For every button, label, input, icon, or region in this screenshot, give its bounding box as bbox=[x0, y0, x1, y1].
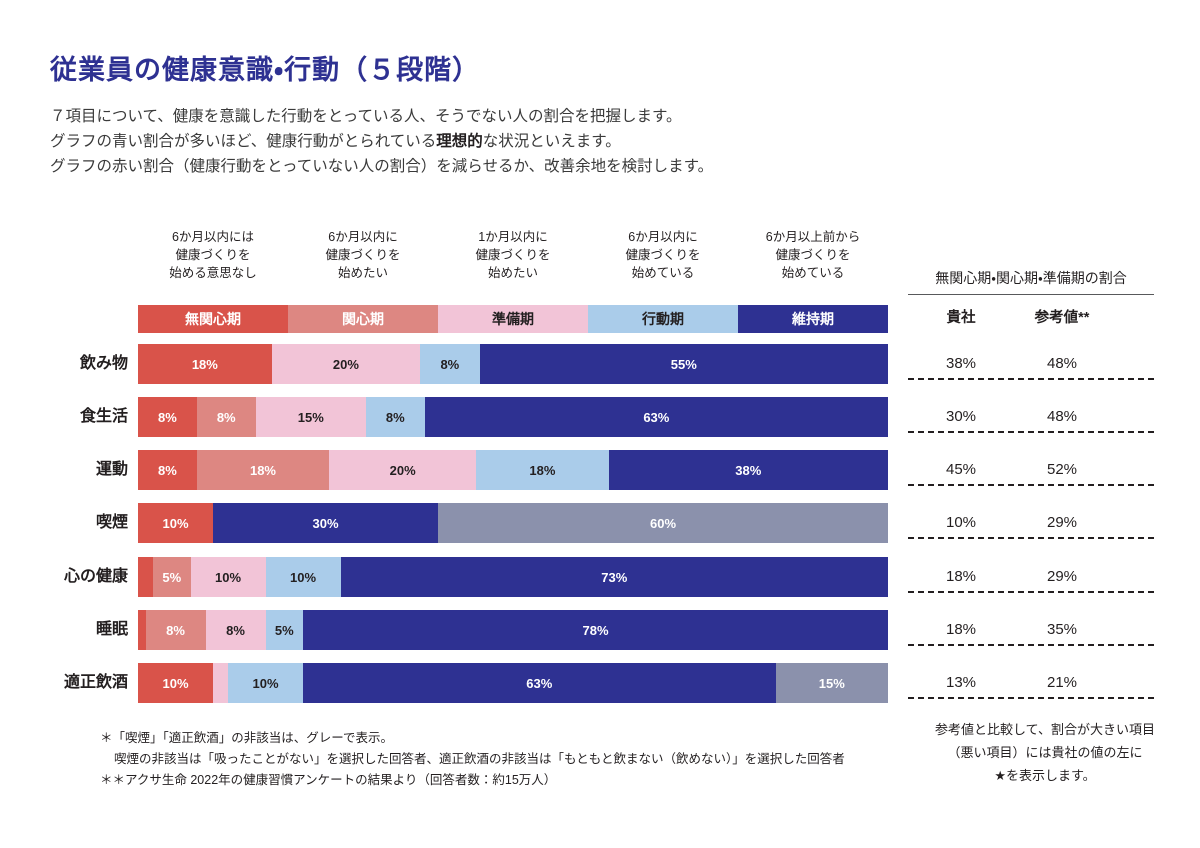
bar-segment-行動期[interactable]: 18% bbox=[476, 450, 608, 490]
bar-segment-維持期[interactable]: 38% bbox=[609, 450, 888, 490]
footnote-right-line-1: 参考値と比較して、割合が大きい項目 bbox=[900, 718, 1190, 741]
stacked-bar: 10%10%63%15% bbox=[138, 663, 888, 703]
bar-segment-関心期[interactable]: 5% bbox=[153, 557, 191, 597]
stage-caption-3-line-1: 1か月以内に bbox=[438, 228, 588, 246]
bar-segment-無関心期[interactable]: 8% bbox=[138, 450, 197, 490]
legend-item-4[interactable]: 行動期 bbox=[588, 305, 738, 333]
chart-row: 飲み物18%20%8%55%38%48% bbox=[0, 344, 1200, 384]
row-separator bbox=[908, 537, 1154, 539]
footnote-right: 参考値と比較して、割合が大きい項目 （悪い項目）には貴社の値の左に ★を表示しま… bbox=[900, 718, 1190, 787]
stacked-bar: 10%30%60% bbox=[138, 503, 888, 543]
row-separator bbox=[908, 431, 1154, 433]
chart-row: 心の健康5%10%10%73%18%29% bbox=[0, 557, 1200, 597]
legend-item-5[interactable]: 維持期 bbox=[738, 305, 888, 333]
chart-row: 喫煙10%30%60%10%29% bbox=[0, 503, 1200, 543]
right-table-title: 無関心期・関心期・準備期の割合 bbox=[908, 268, 1154, 288]
bar-segment-維持期[interactable]: 55% bbox=[480, 344, 888, 384]
stage-caption-4: 6か月以内に健康づくりを始めている bbox=[588, 228, 738, 282]
slide-root: 従業員の健康意識・行動（５段階） ７項目について、健康を意識した行動をとっている… bbox=[0, 0, 1200, 848]
bar-segment-維持期[interactable]: 30% bbox=[213, 503, 438, 543]
bar-segment-準備期[interactable]: 10% bbox=[191, 557, 266, 597]
stage-caption-1-line-2: 健康づくりを bbox=[138, 246, 288, 264]
stage-caption-4-line-2: 健康づくりを bbox=[588, 246, 738, 264]
right-table-rule bbox=[908, 294, 1154, 295]
stage-caption-5: 6か月以上前から健康づくりを始めている bbox=[738, 228, 888, 282]
stage-caption-4-line-3: 始めている bbox=[588, 264, 738, 282]
legend-item-3[interactable]: 準備期 bbox=[438, 305, 588, 333]
bar-segment-準備期[interactable]: 15% bbox=[256, 397, 366, 437]
bar-segment-無関心期[interactable] bbox=[138, 557, 153, 597]
stage-legend: 無関心期関心期準備期行動期維持期 bbox=[138, 305, 888, 333]
bar-segment-行動期[interactable]: 8% bbox=[420, 344, 479, 384]
stage-caption-1-line-3: 始める意思なし bbox=[138, 264, 288, 282]
bar-segment-維持期[interactable]: 63% bbox=[303, 663, 776, 703]
chart-row: 睡眠8%8%5%78%18%35% bbox=[0, 610, 1200, 650]
row-label-7: 適正飲酒 bbox=[64, 663, 128, 703]
stage-caption-1: 6か月以内には健康づくりを始める意思なし bbox=[138, 228, 288, 282]
bar-segment-非該当[interactable]: 60% bbox=[438, 503, 888, 543]
bar-segment-準備期[interactable] bbox=[213, 663, 228, 703]
bar-segment-無関心期[interactable]: 8% bbox=[138, 397, 197, 437]
stacked-bar: 8%8%5%78% bbox=[138, 610, 888, 650]
stage-caption-3: 1か月以内に健康づくりを始めたい bbox=[438, 228, 588, 282]
bar-segment-準備期[interactable]: 20% bbox=[272, 344, 421, 384]
row-label-6: 睡眠 bbox=[96, 610, 128, 650]
bar-segment-維持期[interactable]: 63% bbox=[425, 397, 888, 437]
right-table-col-ref: 参考値** bbox=[1012, 306, 1112, 327]
footnote-left-line-1: ＊「喫煙」「適正飲酒」の非該当は、グレーで表示。 bbox=[100, 728, 845, 749]
stage-caption-4-line-1: 6か月以内に bbox=[588, 228, 738, 246]
bar-segment-無関心期[interactable]: 10% bbox=[138, 663, 213, 703]
row-separator bbox=[908, 591, 1154, 593]
row-label-1: 飲み物 bbox=[80, 344, 128, 384]
bar-segment-準備期[interactable]: 8% bbox=[206, 610, 266, 650]
bar-segment-行動期[interactable]: 5% bbox=[266, 610, 304, 650]
bar-segment-非該当[interactable]: 15% bbox=[776, 663, 889, 703]
bar-segment-関心期[interactable]: 18% bbox=[197, 450, 329, 490]
stacked-bar: 18%20%8%55% bbox=[138, 344, 888, 384]
bar-segment-関心期[interactable]: 8% bbox=[146, 610, 206, 650]
bar-segment-関心期[interactable]: 8% bbox=[197, 397, 256, 437]
stacked-bar: 8%18%20%18%38% bbox=[138, 450, 888, 490]
stage-caption-3-line-2: 健康づくりを bbox=[438, 246, 588, 264]
stacked-bar: 8%8%15%8%63% bbox=[138, 397, 888, 437]
row-label-5: 心の健康 bbox=[64, 557, 128, 597]
bar-segment-維持期[interactable]: 73% bbox=[341, 557, 889, 597]
right-table-col-your: 貴社 bbox=[926, 306, 996, 327]
stage-caption-2: 6か月以内に健康づくりを始めたい bbox=[288, 228, 438, 282]
bar-segment-無関心期[interactable]: 18% bbox=[138, 344, 272, 384]
stage-caption-5-line-1: 6か月以上前から bbox=[738, 228, 888, 246]
chart-row: 食生活8%8%15%8%63%30%48% bbox=[0, 397, 1200, 437]
legend-item-1[interactable]: 無関心期 bbox=[138, 305, 288, 333]
stacked-bar: 5%10%10%73% bbox=[138, 557, 888, 597]
stage-caption-2-line-3: 始めたい bbox=[288, 264, 438, 282]
footnote-left-line-2: 喫煙の非該当は「吸ったことがない」を選択した回答者、適正飲酒の非該当は「もともと… bbox=[100, 749, 845, 770]
stage-caption-5-line-2: 健康づくりを bbox=[738, 246, 888, 264]
row-separator bbox=[908, 484, 1154, 486]
stage-caption-5-line-3: 始めている bbox=[738, 264, 888, 282]
stage-captions: 6か月以内には健康づくりを始める意思なし6か月以内に健康づくりを始めたい1か月以… bbox=[138, 228, 888, 300]
footnote-left: ＊「喫煙」「適正飲酒」の非該当は、グレーで表示。 喫煙の非該当は「吸ったことがな… bbox=[100, 728, 845, 791]
bar-segment-無関心期[interactable] bbox=[138, 610, 146, 650]
footnote-right-line-3: ★を表示します。 bbox=[900, 764, 1190, 787]
bar-segment-行動期[interactable]: 10% bbox=[228, 663, 303, 703]
row-separator bbox=[908, 378, 1154, 380]
chart-row: 運動8%18%20%18%38%45%52% bbox=[0, 450, 1200, 490]
row-separator bbox=[908, 697, 1154, 699]
chart-row: 適正飲酒10%10%63%15%13%21% bbox=[0, 663, 1200, 703]
bar-segment-準備期[interactable]: 20% bbox=[329, 450, 476, 490]
footnote-right-line-2: （悪い項目）には貴社の値の左に bbox=[900, 741, 1190, 764]
stage-caption-1-line-1: 6か月以内には bbox=[138, 228, 288, 246]
bar-segment-維持期[interactable]: 78% bbox=[303, 610, 888, 650]
bar-segment-無関心期[interactable]: 10% bbox=[138, 503, 213, 543]
stage-caption-3-line-3: 始めたい bbox=[438, 264, 588, 282]
bar-segment-行動期[interactable]: 10% bbox=[266, 557, 341, 597]
bar-segment-行動期[interactable]: 8% bbox=[366, 397, 425, 437]
row-label-2: 食生活 bbox=[80, 397, 128, 437]
stage-caption-2-line-1: 6か月以内に bbox=[288, 228, 438, 246]
stage-caption-2-line-2: 健康づくりを bbox=[288, 246, 438, 264]
footnote-left-line-3: ＊＊アクサ生命 2022年の健康習慣アンケートの結果より（回答者数：約15万人） bbox=[100, 770, 845, 791]
row-label-4: 喫煙 bbox=[96, 503, 128, 543]
row-separator bbox=[908, 644, 1154, 646]
row-label-3: 運動 bbox=[96, 450, 128, 490]
legend-item-2[interactable]: 関心期 bbox=[288, 305, 438, 333]
